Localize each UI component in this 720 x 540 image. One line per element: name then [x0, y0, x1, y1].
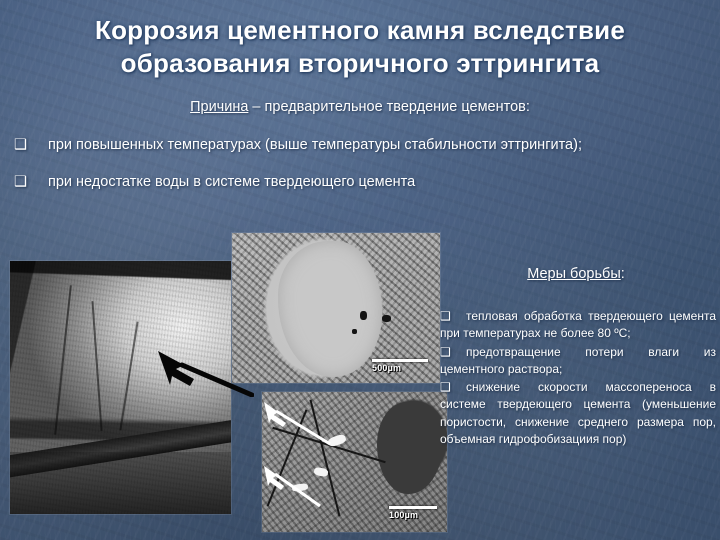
cause-label: Причина — [190, 99, 248, 115]
slide-title: Коррозия цементного камня вследствие обр… — [28, 14, 692, 80]
list-item: ❑при повышенных температурах (выше темпе… — [14, 135, 704, 156]
cause-lead-line: Причина – предварительное твердение цеме… — [0, 99, 720, 115]
list-item-label: снижение скорости массопереноса в систем… — [440, 380, 716, 446]
list-item: ❑при недостатке воды в системе твердеюще… — [14, 172, 704, 193]
scale-bar-500um: 500µm — [372, 359, 428, 373]
white-arrow-icon — [262, 462, 322, 510]
measures-list: ❑тепловая обработка твердеющего цемента … — [440, 308, 716, 449]
sem-dark-speck — [360, 311, 367, 320]
measures-heading: Меры борьбы: — [440, 266, 712, 282]
scale-bar-rule — [389, 506, 437, 509]
list-item: ❑предотвращение потери влаги из цементно… — [440, 344, 716, 379]
measures-heading-label: Меры борьбы — [527, 266, 621, 282]
slide-canvas: Коррозия цементного камня вследствие обр… — [0, 0, 720, 540]
sem-micrograph-500um: 500µm — [232, 233, 440, 383]
square-bullet-icon: ❑ — [440, 308, 466, 325]
list-item-label: тепловая обработка твердеющего цемента п… — [440, 309, 716, 340]
sem-dark-speck — [352, 329, 357, 334]
cause-rest: – предварительное твердение цементов: — [248, 99, 529, 115]
list-item: ❑снижение скорости массопереноса в систе… — [440, 379, 716, 448]
scale-bar-rule — [372, 359, 428, 362]
sem-micrograph-100um: 100µm — [262, 392, 447, 532]
scale-bar-100um: 100µm — [389, 506, 437, 520]
square-bullet-icon: ❑ — [440, 379, 466, 396]
sem-dark-speck — [382, 315, 391, 322]
white-arrow-icon — [262, 396, 332, 446]
list-item-label: предотвращение потери влаги из цементног… — [440, 345, 716, 376]
square-bullet-icon: ❑ — [440, 344, 466, 361]
square-bullet-icon: ❑ — [14, 135, 48, 156]
cause-bullet-list: ❑при повышенных температурах (выше темпе… — [14, 135, 704, 208]
sem-pore-region — [278, 241, 382, 377]
list-item-label: при недостатке воды в системе твердеющег… — [48, 174, 415, 190]
square-bullet-icon: ❑ — [14, 172, 48, 193]
sem-void-region — [377, 402, 443, 494]
scale-bar-label: 100µm — [389, 510, 418, 520]
black-arrow-icon — [154, 345, 254, 397]
measures-heading-colon: : — [621, 266, 625, 282]
scale-bar-label: 500µm — [372, 363, 401, 373]
list-item: ❑тепловая обработка твердеющего цемента … — [440, 308, 716, 343]
list-item-label: при повышенных температурах (выше темпер… — [48, 137, 582, 153]
